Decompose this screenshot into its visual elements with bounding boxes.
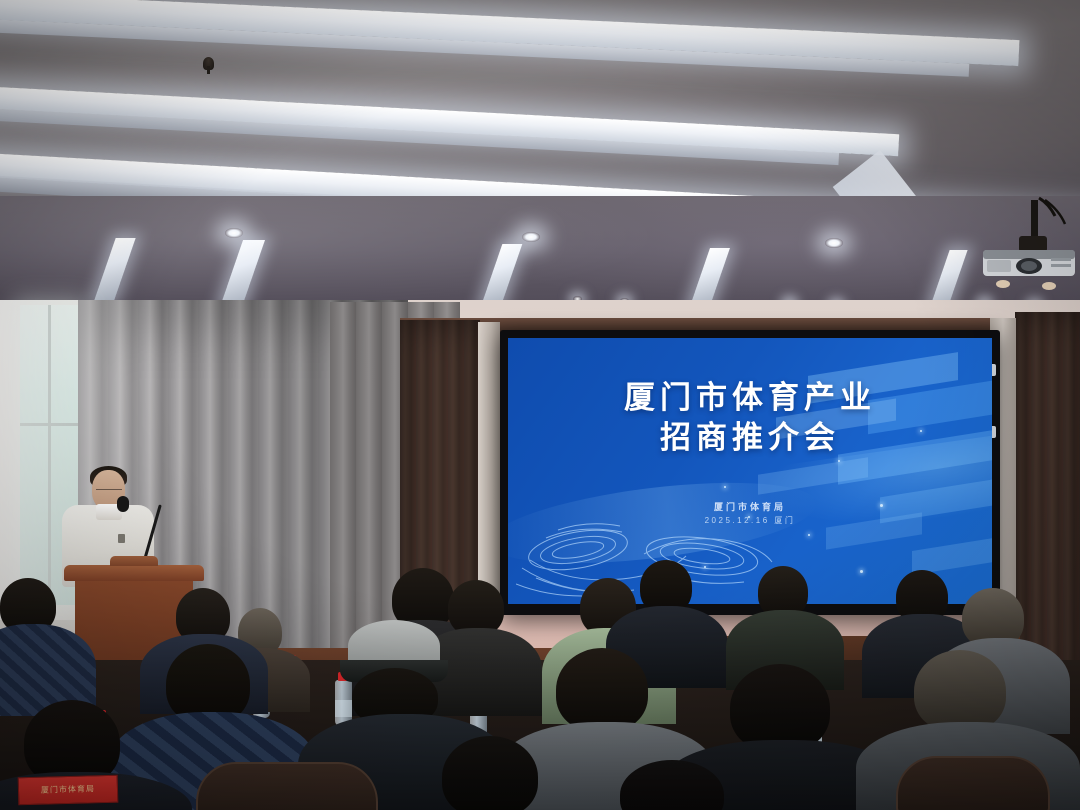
slide-sparkle-7	[724, 486, 726, 488]
presenter-glasses-icon	[96, 489, 122, 495]
audience-head-grey-hair	[914, 650, 1006, 732]
slide-organizer: 厦门市体育局	[508, 500, 992, 513]
conference-photo-scene: 厦门市体育产业 招商推介会 厦门市体育局 2025.12.16 厦门	[0, 0, 1080, 810]
sprinkler-head-icon	[203, 57, 214, 70]
audience-head	[556, 648, 648, 732]
slide-sparkle-2	[838, 460, 840, 462]
slide-title-line2: 招商推介会	[508, 418, 992, 458]
slide-title: 厦门市体育产业 招商推介会	[508, 378, 992, 457]
spotlight-3	[825, 238, 843, 248]
placard-text: 厦门市体育局	[19, 776, 118, 805]
slide-title-line1: 厦门市体育产业	[508, 378, 992, 418]
ceiling-projector-icon	[975, 196, 1080, 308]
wood-panel-right	[1015, 312, 1080, 692]
audience-head	[730, 664, 830, 752]
slide-sparkle-8	[860, 570, 863, 573]
chair-back-1	[196, 762, 378, 810]
podium-top	[64, 565, 204, 581]
audience-head	[442, 736, 538, 810]
slide-sparkle-4	[808, 534, 810, 536]
spotlight-1	[225, 228, 243, 238]
desk-name-placard: 厦门市体育局	[18, 775, 119, 806]
presenter-badge	[118, 534, 125, 543]
spotlight-2	[522, 232, 540, 242]
microphone-head-icon	[117, 496, 129, 512]
chair-back-2	[896, 756, 1050, 810]
slide-date-location: 2025.12.16 厦门	[508, 515, 992, 526]
slide-canvas: 厦门市体育产业 招商推介会 厦门市体育局 2025.12.16 厦门	[508, 338, 992, 604]
